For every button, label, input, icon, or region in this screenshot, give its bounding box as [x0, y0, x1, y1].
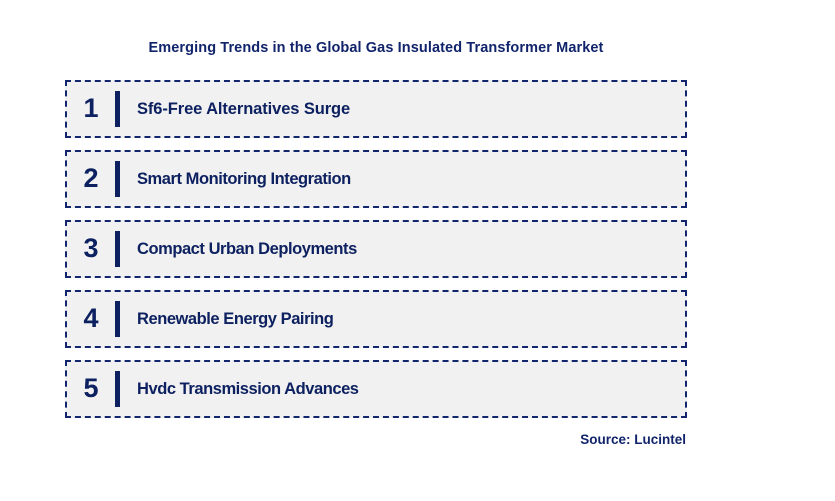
trend-row[interactable]: 1 Sf6-Free Alternatives Surge: [65, 80, 687, 138]
trend-rank-number: 5: [67, 375, 115, 404]
trend-label: Renewable Energy Pairing: [120, 310, 333, 329]
content-block: Emerging Trends in the Global Gas Insula…: [65, 0, 687, 447]
trend-label: Hvdc Transmission Advances: [120, 380, 359, 399]
infographic-canvas: Emerging Trends in the Global Gas Insula…: [0, 0, 835, 501]
trend-rank-number: 1: [67, 95, 115, 124]
trend-rank-number: 3: [67, 235, 115, 264]
trend-row[interactable]: 5 Hvdc Transmission Advances: [65, 360, 687, 418]
trend-rank-number: 2: [67, 165, 115, 194]
trend-rank-number: 4: [67, 305, 115, 334]
trend-row[interactable]: 4 Renewable Energy Pairing: [65, 290, 687, 348]
trend-row[interactable]: 2 Smart Monitoring Integration: [65, 150, 687, 208]
trend-label: Smart Monitoring Integration: [120, 170, 351, 189]
trend-label: Compact Urban Deployments: [120, 240, 357, 259]
trend-list: 1 Sf6-Free Alternatives Surge 2 Smart Mo…: [65, 80, 687, 418]
trend-row[interactable]: 3 Compact Urban Deployments: [65, 220, 687, 278]
trend-label: Sf6-Free Alternatives Surge: [120, 100, 350, 119]
source-attribution: Source: Lucintel: [65, 432, 687, 447]
page-title: Emerging Trends in the Global Gas Insula…: [65, 0, 687, 58]
